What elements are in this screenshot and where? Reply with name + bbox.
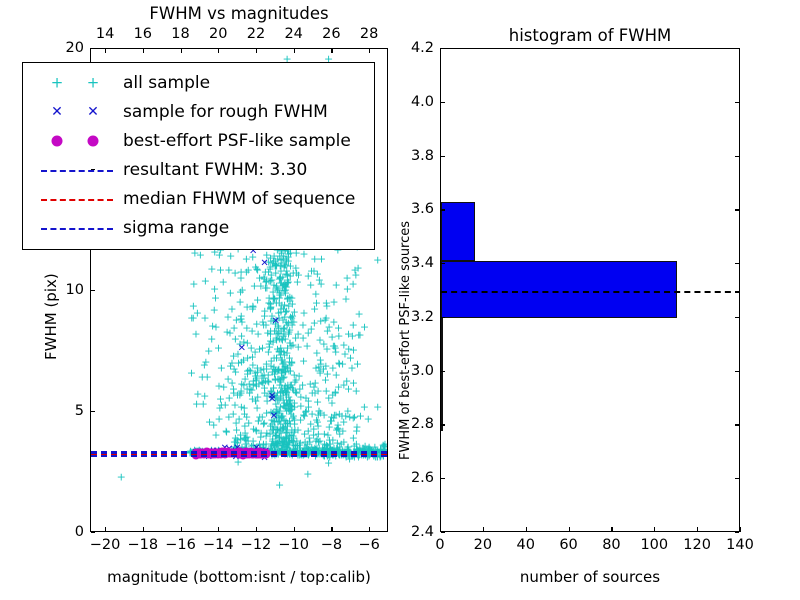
histogram-median-line — [441, 291, 739, 293]
left-ytick — [91, 169, 96, 170]
scatter-point-all-sample: + — [239, 354, 248, 365]
scatter-point-all-sample: + — [117, 472, 126, 483]
right-yticklabel: 3.6 — [394, 201, 434, 217]
scatter-point-all-sample: + — [334, 322, 343, 333]
right-ytick-mirror — [735, 156, 740, 157]
left-xticklabel-bottom: −10 — [278, 537, 309, 553]
scatter-point-all-sample: + — [256, 432, 265, 443]
scatter-point-all-sample: + — [347, 362, 356, 373]
left-xticklabel-bottom: −20 — [90, 537, 121, 553]
right-xticklabel: 40 — [516, 537, 534, 553]
scatter-point-all-sample: + — [215, 249, 224, 260]
right-panel-axes — [440, 48, 740, 532]
left-xtick-bottom — [181, 527, 182, 532]
left-xtick-bottom — [105, 527, 106, 532]
left-yticklabel: 5 — [48, 403, 84, 419]
right-yticklabel: 3.4 — [394, 255, 434, 271]
scatter-point-all-sample: + — [224, 264, 233, 275]
left-xticklabel-top: 20 — [209, 26, 227, 42]
scatter-point-all-sample: + — [300, 410, 309, 421]
dashed-line-icon — [41, 199, 113, 201]
scatter-point-all-sample: + — [277, 411, 286, 422]
legend-key — [31, 155, 123, 184]
right-ytick-mirror — [735, 263, 740, 264]
scatter-point-all-sample: + — [299, 355, 308, 366]
scatter-point-all-sample: + — [211, 292, 220, 303]
scatter-point-all-sample: + — [278, 282, 287, 293]
scatter-point-all-sample: + — [275, 479, 284, 490]
scatter-point-all-sample: + — [238, 285, 247, 296]
right-xtick — [440, 527, 441, 532]
left-xtick-bottom — [218, 527, 219, 532]
left-xtick-top — [143, 49, 144, 54]
right-xtick — [569, 527, 570, 532]
right-ytick-mirror — [735, 48, 740, 49]
scatter-point-rough-fwhm: ✕ — [272, 317, 280, 327]
scatter-point-all-sample: + — [293, 276, 302, 287]
circle-icon — [52, 135, 63, 146]
scatter-point-all-sample: + — [373, 254, 382, 265]
right-yticklabel: 2.6 — [394, 470, 434, 486]
left-xtick-bottom — [143, 527, 144, 532]
legend-key: ✕✕ — [31, 97, 123, 126]
legend-key — [31, 213, 123, 242]
right-ytick-mirror — [735, 102, 740, 103]
scatter-point-all-sample: + — [332, 280, 341, 291]
scatter-point-all-sample: + — [215, 403, 224, 414]
scatter-point-all-sample: + — [242, 267, 251, 278]
left-ytick — [91, 411, 96, 412]
scatter-point-all-sample: + — [236, 430, 245, 441]
left-xticklabel-bottom: −14 — [203, 537, 234, 553]
legend-label: sample for rough FWHM — [123, 102, 328, 122]
scatter-point-all-sample: + — [303, 468, 312, 479]
right-xticklabel: 140 — [726, 537, 754, 553]
scatter-point-rough-fwhm: ✕ — [270, 412, 278, 422]
scatter-point-all-sample: + — [217, 363, 226, 374]
right-yticklabel: 4.2 — [394, 40, 434, 56]
scatter-point-all-sample: + — [252, 318, 261, 329]
scatter-point-all-sample: + — [199, 398, 208, 409]
scatter-point-all-sample: + — [268, 433, 277, 444]
right-ytick — [441, 424, 446, 425]
left-xtick-top — [181, 49, 182, 54]
right-ytick-mirror — [735, 532, 740, 533]
scatter-point-all-sample: + — [331, 346, 340, 357]
legend-row: ++all sample — [31, 68, 366, 97]
left-yticklabel: 0 — [48, 524, 84, 540]
scatter-point-all-sample: + — [189, 278, 198, 289]
right-xtick — [483, 527, 484, 532]
left-xtick-bottom — [294, 527, 295, 532]
scatter-point-all-sample: + — [280, 311, 289, 322]
right-ytick — [441, 478, 446, 479]
scatter-point-all-sample: + — [267, 270, 276, 281]
scatter-point-all-sample: + — [327, 398, 336, 409]
scatter-point-all-sample: + — [344, 344, 353, 355]
scatter-point-all-sample: + — [329, 296, 338, 307]
histogram-bar — [441, 202, 475, 261]
legend-row: ✕✕sample for rough FWHM — [31, 97, 366, 126]
scatter-point-rough-fwhm: ✕ — [238, 344, 246, 354]
left-xtick-top — [256, 49, 257, 54]
scatter-point-all-sample: + — [316, 279, 325, 290]
scatter-point-all-sample: + — [364, 414, 373, 425]
scatter-point-all-sample: + — [349, 278, 358, 289]
right-yticklabel: 3.8 — [394, 148, 434, 164]
left-ytick — [91, 290, 96, 291]
scatter-point-all-sample: + — [196, 249, 205, 260]
scatter-point-rough-fwhm: ✕ — [268, 395, 276, 405]
scatter-point-all-sample: + — [277, 257, 286, 268]
scatter-point-all-sample: + — [348, 331, 357, 342]
right-ytick — [441, 156, 446, 157]
scatter-point-all-sample: + — [310, 318, 319, 329]
scatter-point-all-sample: + — [231, 367, 240, 378]
right-xticklabel: 80 — [602, 537, 620, 553]
cross-icon: ✕ — [87, 105, 99, 119]
histogram-bar — [441, 261, 677, 317]
scatter-point-all-sample: + — [214, 343, 223, 354]
right-panel-title: histogram of FWHM — [440, 26, 740, 45]
scatter-point-all-sample: + — [258, 343, 267, 354]
scatter-point-all-sample: + — [251, 371, 260, 382]
scatter-point-all-sample: + — [204, 345, 213, 356]
scatter-point-all-sample: + — [314, 385, 323, 396]
right-yticklabel: 2.4 — [394, 524, 434, 540]
left-xtick-top — [218, 49, 219, 54]
right-xticklabel: 60 — [559, 537, 577, 553]
scatter-point-all-sample: + — [219, 381, 228, 392]
left-ytick — [91, 532, 96, 533]
scatter-point-all-sample: + — [210, 305, 219, 316]
scatter-point-all-sample: + — [352, 386, 361, 397]
scatter-point-all-sample: + — [277, 334, 286, 345]
left-xtick-top — [294, 49, 295, 54]
scatter-point-all-sample: + — [282, 397, 291, 408]
scatter-point-all-sample: + — [229, 408, 238, 419]
scatter-point-all-sample: + — [299, 308, 308, 319]
left-xtick-bottom — [256, 527, 257, 532]
scatter-point-all-sample: + — [200, 313, 209, 324]
scatter-point-all-sample: + — [265, 297, 274, 308]
scatter-point-all-sample: + — [316, 359, 325, 370]
scatter-point-all-sample: + — [323, 326, 332, 337]
scatter-point-all-sample: + — [310, 303, 319, 314]
right-ytick — [441, 102, 446, 103]
left-xticklabel-top: 24 — [284, 26, 302, 42]
left-xticklabel-bottom: −18 — [127, 537, 158, 553]
circle-icon — [88, 135, 99, 146]
scatter-point-all-sample: + — [237, 331, 246, 342]
left-xticklabel-top: 16 — [134, 26, 152, 42]
scatter-point-all-sample: + — [317, 253, 326, 264]
plus-icon: + — [87, 75, 100, 90]
scatter-point-all-sample: + — [321, 313, 330, 324]
legend-key — [31, 126, 123, 155]
scatter-point-all-sample: + — [360, 401, 369, 412]
resultant-fwhm-line — [91, 452, 387, 454]
right-ytick — [441, 532, 446, 533]
scatter-point-all-sample: + — [295, 440, 304, 451]
scatter-point-all-sample: + — [191, 329, 200, 340]
right-xtick — [697, 527, 698, 532]
scatter-point-all-sample: + — [237, 316, 246, 327]
scatter-point-all-sample: + — [248, 304, 257, 315]
scatter-point-all-sample: + — [276, 386, 285, 397]
legend: ++all sample✕✕sample for rough FWHMbest-… — [22, 62, 375, 250]
scatter-point-all-sample: + — [312, 434, 321, 445]
scatter-point-all-sample: + — [373, 402, 382, 413]
scatter-point-all-sample: + — [235, 390, 244, 401]
legend-label: median FHWM of sequence — [123, 189, 355, 209]
right-yticklabel: 2.8 — [394, 416, 434, 432]
scatter-point-all-sample: + — [226, 287, 235, 298]
right-yticklabel: 3.0 — [394, 363, 434, 379]
legend-label: resultant FWHM: 3.30 — [123, 160, 307, 180]
right-ytick — [441, 371, 446, 372]
scatter-point-all-sample: + — [268, 257, 277, 268]
scatter-point-all-sample: + — [222, 326, 231, 337]
right-ytick — [441, 263, 446, 264]
left-xtick-top — [105, 49, 106, 54]
dashdot-line-icon — [41, 228, 113, 230]
scatter-point-all-sample: + — [313, 397, 322, 408]
right-ytick — [441, 317, 446, 318]
legend-row: best-effort PSF-like sample — [31, 126, 366, 155]
scatter-point-all-sample: + — [360, 322, 369, 333]
left-xtick-bottom — [331, 527, 332, 532]
scatter-point-all-sample: + — [222, 426, 231, 437]
right-xticklabel: 120 — [683, 537, 711, 553]
left-panel-xlabel-bottom: magnitude (bottom:isnt / top:calib) — [90, 568, 388, 586]
scatter-point-rough-fwhm: ✕ — [260, 259, 268, 269]
right-ytick — [441, 209, 446, 210]
left-xticklabel-top: 14 — [96, 26, 114, 42]
legend-label: sigma range — [123, 218, 229, 238]
scatter-point-all-sample: + — [243, 366, 252, 377]
scatter-point-all-sample: + — [211, 321, 220, 332]
right-panel-xlabel: number of sources — [440, 568, 740, 586]
left-yticklabel: 20 — [48, 40, 84, 56]
scatter-point-all-sample: + — [352, 422, 361, 433]
right-ytick-mirror — [735, 424, 740, 425]
scatter-point-all-sample: + — [324, 457, 333, 468]
scatter-point-all-sample: + — [270, 366, 279, 377]
scatter-point-all-sample: + — [200, 360, 209, 371]
scatter-point-all-sample: + — [203, 371, 212, 382]
left-xticklabel-top: 28 — [360, 26, 378, 42]
histogram-bar — [441, 374, 443, 430]
scatter-point-all-sample: + — [254, 415, 263, 426]
right-xticklabel: 0 — [435, 537, 444, 553]
left-ytick — [91, 48, 96, 49]
scatter-point-all-sample: + — [288, 340, 297, 351]
legend-row: resultant FWHM: 3.30 — [31, 155, 366, 184]
scatter-point-all-sample: + — [187, 368, 196, 379]
right-xtick — [611, 527, 612, 532]
scatter-point-all-sample: + — [226, 251, 235, 262]
left-xticklabel-top: 18 — [171, 26, 189, 42]
left-xtick-top — [331, 49, 332, 54]
left-xticklabel-bottom: −12 — [241, 537, 272, 553]
scatter-point-all-sample: + — [250, 280, 259, 291]
scatter-point-all-sample: + — [207, 263, 216, 274]
left-xtick-top — [369, 49, 370, 54]
right-xtick — [740, 527, 741, 532]
right-ytick-mirror — [735, 317, 740, 318]
right-xticklabel: 100 — [640, 537, 668, 553]
left-xticklabel-bottom: −6 — [358, 537, 379, 553]
right-ytick-mirror — [735, 209, 740, 210]
histogram-bar — [441, 318, 443, 374]
scatter-point-all-sample: + — [227, 304, 236, 315]
scatter-point-all-sample: + — [187, 313, 196, 324]
scatter-point-all-sample: + — [332, 369, 341, 380]
left-panel-title: FWHM vs magnitudes — [90, 4, 388, 23]
scatter-point-all-sample: + — [209, 420, 218, 431]
scatter-point-all-sample: + — [339, 416, 348, 427]
right-xtick — [654, 527, 655, 532]
right-xticklabel: 20 — [474, 537, 492, 553]
right-yticklabel: 3.2 — [394, 309, 434, 325]
scatter-point-all-sample: + — [322, 385, 331, 396]
scatter-point-all-sample: + — [339, 437, 348, 448]
cross-icon: ✕ — [51, 105, 63, 119]
legend-row: median FHWM of sequence — [31, 184, 366, 213]
left-xticklabel-bottom: −8 — [321, 537, 342, 553]
scatter-point-all-sample: + — [304, 270, 313, 281]
figure-canvas: FWHM vs magnitudes +++++++++++++++++++++… — [0, 0, 800, 600]
dashed-line-icon — [41, 170, 113, 172]
left-xticklabel-top: 26 — [322, 26, 340, 42]
right-ytick-mirror — [735, 478, 740, 479]
legend-label: all sample — [123, 73, 210, 93]
right-ytick — [441, 48, 446, 49]
scatter-point-all-sample: + — [279, 347, 288, 358]
scatter-point-all-sample: + — [290, 369, 299, 380]
sigma-range-lower-line — [91, 455, 387, 457]
legend-label: best-effort PSF-like sample — [123, 131, 351, 151]
right-yticklabel: 4.0 — [394, 94, 434, 110]
scatter-point-all-sample: + — [201, 275, 210, 286]
right-ytick-mirror — [735, 371, 740, 372]
right-xtick — [526, 527, 527, 532]
legend-row: sigma range — [31, 213, 366, 242]
left-yticklabel: 10 — [48, 282, 84, 298]
right-panel-plot-area — [441, 49, 739, 531]
legend-key — [31, 184, 123, 213]
left-xticklabel-bottom: −16 — [165, 537, 196, 553]
legend-key: ++ — [31, 68, 123, 97]
plus-icon: + — [51, 75, 64, 90]
left-xticklabel-top: 22 — [247, 26, 265, 42]
left-xtick-bottom — [369, 527, 370, 532]
